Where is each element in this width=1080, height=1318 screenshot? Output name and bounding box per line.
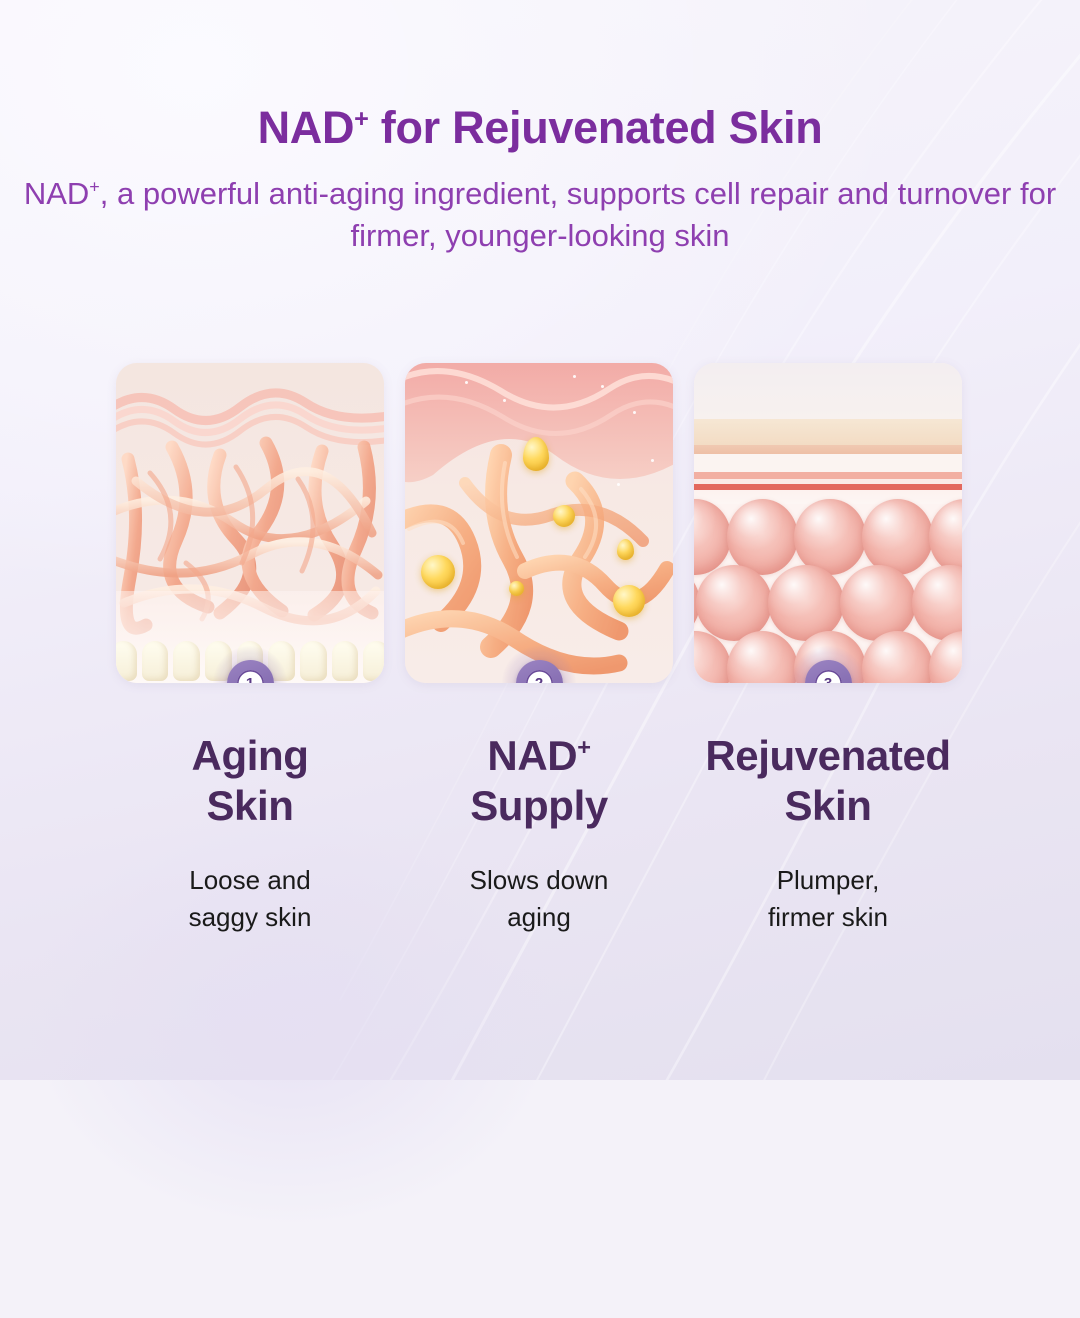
step-image-card-3[interactable]: 3: [694, 363, 962, 683]
step-caption-1: AgingSkin Loose andsaggy skin: [116, 731, 384, 936]
nad-supply-droplets-illustration: [405, 363, 673, 683]
header: NAD+ for Rejuvenated Skin NAD+, a powerf…: [0, 104, 1080, 257]
heading-superscript-plus: +: [577, 734, 590, 760]
step-badge-number-2: 2: [526, 670, 553, 684]
page-subtitle: NAD+, a powerful anti-aging ingredient, …: [0, 173, 1080, 257]
step-badge-number-1: 1: [237, 670, 264, 684]
step-caption-3: RejuvenatedSkin Plumper,firmer skin: [694, 731, 962, 936]
step-image-card-2[interactable]: 2: [405, 363, 673, 683]
step-heading-2: NAD+Supply: [405, 731, 673, 830]
rejuvenated-skin-spheres-illustration: [694, 363, 962, 683]
page-title: NAD+ for Rejuvenated Skin: [0, 104, 1080, 151]
step-badge-1: 1: [213, 646, 287, 683]
step-badge-number-3: 3: [815, 670, 842, 684]
step-heading-3: RejuvenatedSkin: [694, 731, 962, 830]
step-column-1: 1 AgingSkin Loose andsaggy skin: [116, 363, 384, 936]
step-description-3: Plumper,firmer skin: [694, 862, 962, 936]
step-caption-2: NAD+Supply Slows downaging: [405, 731, 673, 936]
step-image-card-1[interactable]: 1: [116, 363, 384, 683]
aging-skin-collagen-illustration: [116, 363, 384, 683]
subtitle-superscript-plus: +: [89, 177, 100, 197]
step-description-1: Loose andsaggy skin: [116, 862, 384, 936]
step-column-3: 3 RejuvenatedSkin Plumper,firmer skin: [694, 363, 962, 936]
step-description-2: Slows downaging: [405, 862, 673, 936]
step-badge-2: 2: [502, 646, 576, 683]
steps-row: 1 AgingSkin Loose andsaggy skin: [116, 363, 963, 936]
title-superscript-plus: +: [354, 105, 368, 133]
step-badge-3: 3: [791, 646, 865, 683]
step-column-2: 2 NAD+Supply Slows downaging: [405, 363, 673, 936]
step-heading-1: AgingSkin: [116, 731, 384, 830]
